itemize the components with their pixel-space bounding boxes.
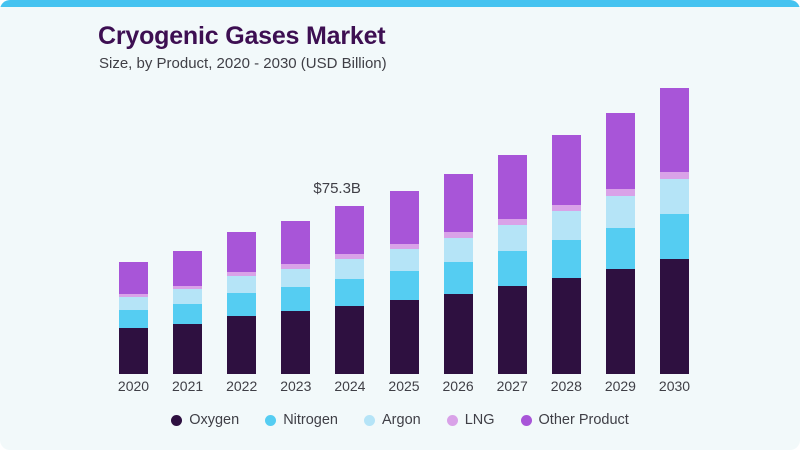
bar-segment-other-product[interactable] [660,88,689,172]
bar-group[interactable] [444,174,473,374]
bar-segment-argon[interactable] [173,289,202,304]
bar-segment-other-product[interactable] [552,135,581,205]
x-axis-tick-label: 2022 [215,378,268,394]
bar-group[interactable] [173,251,202,374]
legend-swatch-icon [265,415,276,426]
bar-segment-nitrogen[interactable] [444,262,473,294]
bar-segment-other-product[interactable] [498,155,527,219]
stacked-bar[interactable] [444,174,473,374]
bar-segment-oxygen[interactable] [119,328,148,374]
bar-segment-oxygen[interactable] [227,316,256,374]
bar-segment-oxygen[interactable] [498,286,527,374]
bar-segment-argon[interactable] [335,259,364,279]
bar-segment-other-product[interactable] [390,191,419,244]
stacked-bar[interactable] [606,113,635,374]
x-axis-tick-label: 2024 [323,378,376,394]
bar-segment-argon[interactable] [498,225,527,251]
legend-swatch-icon [171,415,182,426]
bar-segment-nitrogen[interactable] [552,240,581,278]
legend-item-oxygen[interactable]: Oxygen [171,412,239,428]
x-axis-tick-label: 2023 [269,378,322,394]
bar-segment-nitrogen[interactable] [498,251,527,286]
stacked-bar[interactable] [660,88,689,374]
x-axis-tick-label: 2020 [107,378,160,394]
bar-segment-argon[interactable] [552,211,581,240]
bar-segment-argon[interactable] [390,249,419,271]
legend-item-other-product[interactable]: Other Product [521,412,629,428]
bar-segment-nitrogen[interactable] [227,293,256,316]
bar-segment-other-product[interactable] [335,206,364,254]
bar-segment-oxygen[interactable] [281,311,310,374]
chart-legend: OxygenNitrogenArgonLNGOther Product [0,412,800,428]
x-axis-tick-label: 2029 [594,378,647,394]
legend-item-nitrogen[interactable]: Nitrogen [265,412,338,428]
legend-swatch-icon [447,415,458,426]
bar-segment-other-product[interactable] [281,221,310,264]
bar-segment-nitrogen[interactable] [173,304,202,324]
x-axis-tick-label: 2027 [486,378,539,394]
stacked-bar[interactable] [119,262,148,374]
legend-item-label: LNG [465,412,495,428]
bar-group[interactable] [390,191,419,374]
bar-segment-nitrogen[interactable] [390,271,419,300]
bar-segment-other-product[interactable] [119,262,148,294]
stacked-bar[interactable] [227,232,256,374]
bar-segment-oxygen[interactable] [390,300,419,374]
stacked-bar-plot: 2020202120222023202420252026202720282029… [0,0,800,450]
bar-segment-nitrogen[interactable] [281,287,310,312]
chart-card: Cryogenic Gases Market Size, by Product,… [0,0,800,450]
x-axis-tick-label: 2025 [378,378,431,394]
legend-item-label: Oxygen [189,412,239,428]
bar-segment-lng[interactable] [660,172,689,180]
stacked-bar[interactable] [335,206,364,374]
legend-swatch-icon [364,415,375,426]
legend-item-label: Nitrogen [283,412,338,428]
legend-item-label: Argon [382,412,421,428]
bar-segment-oxygen[interactable] [444,294,473,374]
bar-group[interactable] [227,232,256,374]
x-axis-tick-label: 2028 [540,378,593,394]
bar-group[interactable] [498,155,527,374]
stacked-bar[interactable] [173,251,202,374]
bar-segment-nitrogen[interactable] [335,279,364,306]
bar-segment-oxygen[interactable] [173,324,202,374]
stacked-bar[interactable] [390,191,419,374]
bar-segment-nitrogen[interactable] [119,310,148,328]
legend-item-lng[interactable]: LNG [447,412,495,428]
stacked-bar[interactable] [281,221,310,374]
bar-segment-nitrogen[interactable] [606,228,635,269]
bar-segment-oxygen[interactable] [335,306,364,374]
x-axis-tick-label: 2021 [161,378,214,394]
bar-segment-argon[interactable] [119,297,148,310]
x-axis-tick-label: 2026 [432,378,485,394]
bar-group[interactable] [660,88,689,374]
bar-group[interactable] [606,113,635,374]
legend-item-label: Other Product [539,412,629,428]
bar-segment-argon[interactable] [281,269,310,287]
bar-segment-other-product[interactable] [227,232,256,272]
bar-group[interactable] [119,262,148,374]
bar-segment-argon[interactable] [227,276,256,293]
legend-item-argon[interactable]: Argon [364,412,421,428]
value-annotation: $75.3B [313,180,361,197]
bar-segment-oxygen[interactable] [606,269,635,374]
legend-swatch-icon [521,415,532,426]
bar-segment-oxygen[interactable] [552,278,581,374]
bar-segment-other-product[interactable] [173,251,202,286]
bar-group[interactable] [552,135,581,374]
stacked-bar[interactable] [498,155,527,374]
bar-group[interactable] [281,221,310,374]
bar-segment-oxygen[interactable] [660,259,689,374]
bar-group[interactable] [335,206,364,374]
bar-segment-nitrogen[interactable] [660,214,689,259]
stacked-bar[interactable] [552,135,581,374]
bar-segment-other-product[interactable] [606,113,635,190]
bar-segment-lng[interactable] [606,189,635,196]
bar-segment-argon[interactable] [660,179,689,213]
bar-segment-argon[interactable] [444,238,473,262]
x-axis-tick-label: 2030 [648,378,701,394]
bar-segment-argon[interactable] [606,196,635,227]
bar-segment-other-product[interactable] [444,174,473,232]
